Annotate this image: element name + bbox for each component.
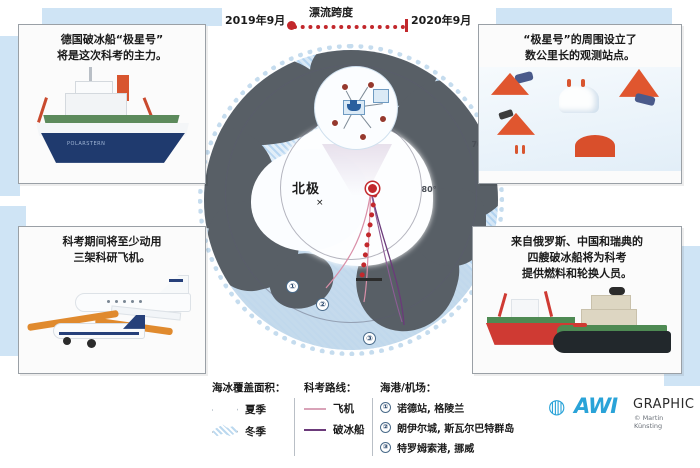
jet-window	[107, 300, 110, 303]
jet-window	[139, 300, 142, 303]
red-ship-crane-2	[544, 291, 553, 317]
panel-polarstern-text: 德国破冰船“极星号” 将是这次科考的主力。	[19, 25, 205, 67]
legend-route-plane: 飞机	[304, 401, 365, 416]
legend-port-2: ② 朗伊尔城, 斯瓦尔巴特群岛	[380, 420, 514, 435]
legend-ice-column: 海冰覆盖面积： 夏季 冬季	[212, 380, 286, 439]
black-ship-hull	[553, 331, 671, 353]
plane-route-line-icon	[304, 408, 326, 410]
dome-tent	[575, 135, 615, 157]
station-box-icon	[373, 89, 389, 103]
drift-start-marker	[366, 182, 379, 195]
observation-station-dot	[367, 81, 375, 89]
ice-camp-illustration	[479, 67, 681, 171]
port-number-3-icon: ③	[380, 442, 391, 453]
timeline-end-tick	[405, 19, 408, 32]
legend-port-column: 海港/机场： ① 诺德站, 格陵兰 ② 朗伊尔城, 斯瓦尔巴特群岛 ③ 特罗姆索…	[380, 380, 514, 455]
legend-route-ship-label: 破冰船	[333, 422, 365, 437]
timeline-dotted-bar	[293, 25, 405, 29]
accent-strip-upper-left	[0, 36, 20, 196]
arctic-map: 80° 70°	[196, 40, 506, 380]
supply-ships-illustration	[473, 285, 681, 363]
red-ship-superstructure	[511, 299, 539, 319]
panel-aircraft-text: 科考期间将至少动用 三架科研飞机。	[19, 227, 205, 269]
panel-supply-ships: 来自俄罗斯、中国和瑞典的 四艘破冰船将为科考 提供燃料和轮换人员。	[472, 226, 682, 374]
timeline-title: 漂流跨度	[309, 4, 353, 20]
map-marker-1[interactable]: ①	[286, 280, 299, 293]
observation-station-dot	[359, 133, 367, 141]
panel-polarstern: 德国破冰船“极星号” 将是这次科考的主力。 POLARSTERN	[18, 24, 206, 184]
timeline-end-label: 2020年9月	[411, 12, 471, 28]
awi-credit-text: © Martin Künsting	[634, 414, 693, 430]
inset-ship-icon	[343, 100, 365, 115]
jet-window	[123, 300, 126, 303]
landing-gear-front	[63, 337, 71, 345]
legend-ice-summer: 夏季	[212, 401, 286, 417]
aircraft-illustration	[19, 269, 205, 363]
legend-route-plane-label: 飞机	[333, 401, 354, 416]
legend-port-2-label: 朗伊尔城, 斯瓦尔巴特群岛	[397, 420, 514, 435]
prop-fuselage-stripe	[59, 332, 139, 335]
panel-aircraft: 科考期间将至少动用 三架科研飞机。	[18, 226, 206, 374]
legend-port-3-label: 特罗姆索港, 挪威	[397, 440, 474, 455]
observation-network-inset	[314, 66, 398, 150]
marker-flag	[515, 145, 518, 154]
legend-port-heading: 海港/机场：	[380, 380, 514, 395]
awi-logo: ◍ AWI GRAPHIC © Martin Künsting	[548, 392, 693, 432]
summer-ice-icon	[212, 401, 238, 417]
legend-ice-summer-label: 夏季	[245, 402, 266, 417]
timeline-start-label: 2019年9月	[225, 12, 285, 28]
port-number-2-icon: ②	[380, 422, 391, 433]
awi-graphic-text: GRAPHIC	[633, 397, 695, 412]
polarstern-illustration: POLARSTERN	[19, 67, 205, 167]
port-number-1-icon: ①	[380, 402, 391, 413]
panel-ice-camp-text: “极星号”的周围设立了 数公里长的观测站点。	[479, 25, 681, 67]
drift-track-end-bar	[356, 278, 382, 281]
ship-name-text: POLARSTERN	[67, 141, 105, 147]
black-ship-equipment	[573, 323, 587, 327]
legend-port-1: ① 诺德站, 格陵兰	[380, 400, 514, 415]
winter-ice-icon	[212, 423, 238, 439]
panel-ice-camp: “极星号”的周围设立了 数公里长的观测站点。	[478, 24, 682, 184]
awi-circle-icon: ◍	[548, 394, 565, 418]
person-figure	[567, 79, 571, 87]
ship-hull-blue	[35, 133, 185, 163]
map-marker-3[interactable]: ③	[363, 332, 376, 345]
panel-supply-ships-text: 来自俄罗斯、中国和瑞典的 四艘破冰船将为科考 提供燃料和轮换人员。	[473, 227, 681, 285]
black-ship-radar	[609, 287, 625, 295]
legend-divider-1	[294, 398, 295, 456]
latitude-label-80: 80°	[422, 185, 437, 194]
jet-window	[131, 300, 134, 303]
person-figure	[581, 79, 585, 87]
map-marker-2[interactable]: ②	[316, 298, 329, 311]
awi-brand-text: AWI	[574, 394, 617, 418]
landing-gear-rear	[87, 339, 96, 348]
legend: 海冰覆盖面积： 夏季 冬季 科考路线： 飞机 破冰船 海港/	[212, 380, 552, 462]
marker-flag	[522, 145, 525, 154]
ship-route-line-icon	[304, 429, 326, 431]
legend-route-column: 科考路线： 飞机 破冰船	[304, 380, 365, 437]
infographic-root: 2019年9月 漂流跨度 2020年9月 80° 70°	[0, 0, 700, 468]
legend-ice-heading: 海冰覆盖面积：	[212, 380, 286, 395]
legend-ice-winter-label: 冬季	[245, 424, 266, 439]
drift-timeline: 2019年9月 漂流跨度 2020年9月	[225, 8, 480, 34]
jet-tail-stripe	[169, 279, 183, 282]
legend-divider-2	[372, 398, 373, 456]
igloo-center	[559, 85, 599, 113]
ship-glyph	[347, 104, 361, 111]
north-pole-cross: ×	[316, 198, 324, 208]
north-pole-label: 北极	[292, 178, 320, 197]
legend-route-ship: 破冰船	[304, 422, 365, 437]
red-ship-crane-1	[498, 293, 507, 317]
legend-route-heading: 科考路线：	[304, 380, 365, 395]
legend-port-3: ③ 特罗姆索港, 挪威	[380, 440, 514, 455]
observation-station-dot	[341, 83, 349, 91]
jet-window	[115, 300, 118, 303]
legend-ice-winter: 冬季	[212, 423, 286, 439]
legend-port-1-label: 诺德站, 格陵兰	[397, 400, 464, 415]
observation-station-dot	[331, 119, 339, 127]
observation-station-dot	[379, 115, 387, 123]
